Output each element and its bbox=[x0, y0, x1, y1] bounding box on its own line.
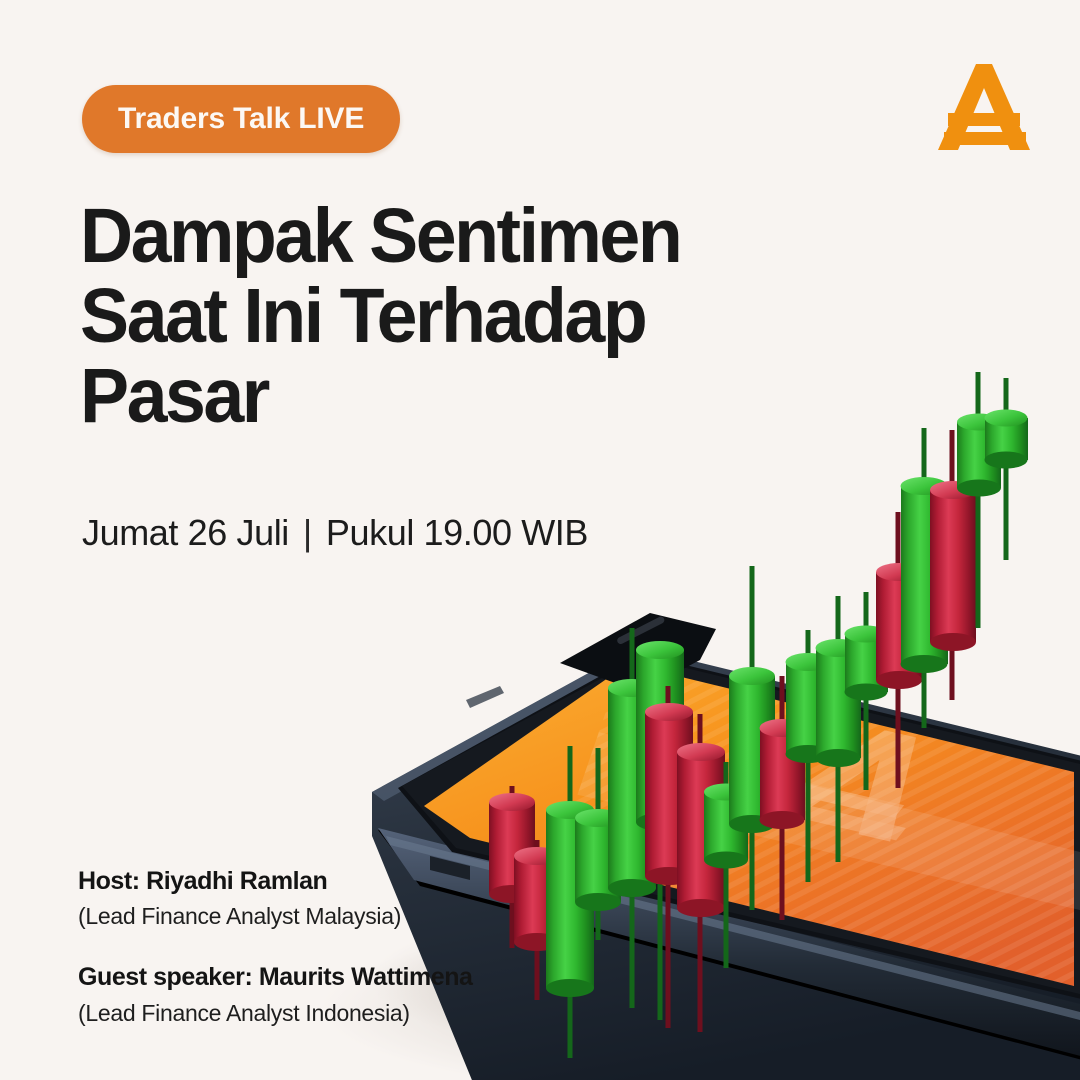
speaker-guest: Guest speaker: Maurits Wattimena (Lead F… bbox=[78, 962, 638, 1028]
datetime-separator: | bbox=[303, 512, 312, 554]
page-title: Dampak Sentimen Saat Ini Terhadap Pasar bbox=[80, 196, 800, 436]
headline-line-1: Dampak Sentimen bbox=[80, 196, 768, 276]
poster-canvas: Traders Talk LIVE Dampak Sentimen Saat I… bbox=[0, 0, 1080, 1080]
event-time: Pukul 19.00 WIB bbox=[326, 512, 588, 554]
speaker-host-name: Host: Riyadhi Ramlan bbox=[78, 866, 638, 897]
brand-logo bbox=[932, 58, 1036, 156]
speaker-host: Host: Riyadhi Ramlan (Lead Finance Analy… bbox=[78, 866, 638, 932]
speaker-host-role: (Lead Finance Analyst Malaysia) bbox=[78, 901, 638, 932]
speaker-list: Host: Riyadhi Ramlan (Lead Finance Analy… bbox=[78, 866, 638, 1029]
headline-line-3: Pasar bbox=[80, 356, 768, 436]
speaker-guest-name: Guest speaker: Maurits Wattimena bbox=[78, 962, 638, 993]
letter-a-currency-icon bbox=[932, 58, 1036, 156]
event-datetime: Jumat 26 Juli | Pukul 19.00 WIB bbox=[82, 512, 588, 554]
speaker-guest-role: (Lead Finance Analyst Indonesia) bbox=[78, 998, 638, 1029]
live-badge[interactable]: Traders Talk LIVE bbox=[82, 85, 400, 153]
headline-line-2: Saat Ini Terhadap bbox=[80, 276, 768, 356]
live-badge-label: Traders Talk LIVE bbox=[118, 102, 364, 136]
event-date: Jumat 26 Juli bbox=[82, 512, 289, 554]
